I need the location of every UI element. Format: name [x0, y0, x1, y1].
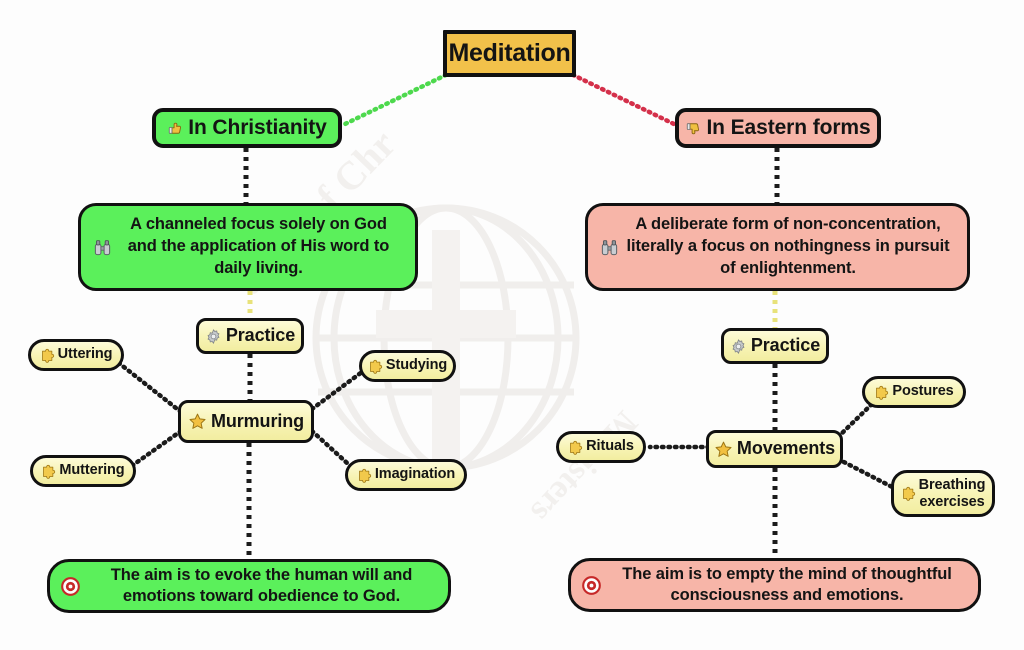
leaf-node-rituals[interactable]: Rituals: [556, 431, 646, 463]
description-node-eastern[interactable]: A deliberate form of non-concentration, …: [585, 203, 970, 291]
hub-label-murmuring: Murmuring: [211, 411, 304, 432]
link-movements-postures: [838, 404, 872, 437]
branch-label-christianity: In Christianity: [188, 116, 327, 141]
thumbs-up-icon: [167, 120, 184, 137]
link-root-christianity: [343, 72, 452, 125]
branch-node-christianity[interactable]: In Christianity: [152, 108, 342, 148]
aim-text-eastern: The aim is to empty the mind of thoughtf…: [606, 564, 968, 607]
svg-text:Ministers: Ministers: [523, 404, 644, 530]
gear-icon: [730, 338, 747, 355]
practice-node-eastern[interactable]: Practice: [721, 328, 829, 364]
thumbs-down-icon: [685, 120, 702, 137]
aim-node-eastern[interactable]: The aim is to empty the mind of thoughtf…: [568, 558, 981, 612]
leaf-label-studying: Studying: [386, 357, 447, 374]
gear-icon: [205, 328, 222, 345]
leaf-label-imagination: Imagination: [375, 466, 455, 483]
puzzle-piece-icon: [41, 464, 56, 479]
connector-layer: [0, 0, 1024, 650]
branch-node-eastern[interactable]: In Eastern forms: [675, 108, 881, 148]
practice-node-christianity[interactable]: Practice: [196, 318, 304, 354]
branch-label-eastern: In Eastern forms: [706, 116, 870, 141]
leaf-node-postures[interactable]: Postures: [862, 376, 966, 408]
hub-node-murmuring[interactable]: Murmuring: [178, 400, 314, 443]
description-node-christianity[interactable]: A channeled focus solely on God and the …: [78, 203, 418, 291]
aim-node-christianity[interactable]: The aim is to evoke the human will and e…: [47, 559, 451, 613]
hub-label-movements: Movements: [737, 438, 835, 459]
binoculars-icon: [600, 238, 619, 257]
puzzle-piece-icon: [368, 359, 383, 374]
leaf-label-breathing-exercises: Breathing exercises: [919, 477, 986, 511]
root-node-meditation[interactable]: Meditation: [443, 30, 576, 77]
puzzle-piece-icon: [901, 486, 916, 501]
root-node-label: Meditation: [449, 39, 571, 69]
description-text-eastern: A deliberate form of non-concentration, …: [621, 214, 955, 279]
puzzle-piece-icon: [357, 468, 372, 483]
target-icon: [60, 576, 81, 597]
binoculars-icon: [93, 238, 112, 257]
puzzle-piece-icon: [568, 440, 583, 455]
link-movements-breathing: [838, 459, 898, 490]
leaf-label-uttering: Uttering: [58, 346, 113, 363]
leaf-node-imagination[interactable]: Imagination: [345, 459, 467, 491]
practice-label-eastern: Practice: [751, 335, 820, 356]
link-murmuring-studying: [312, 369, 366, 409]
leaf-label-postures: Postures: [892, 383, 953, 400]
hub-node-movements[interactable]: Movements: [706, 430, 843, 468]
star-icon: [714, 440, 733, 459]
star-icon: [188, 412, 207, 431]
target-icon: [581, 575, 602, 596]
link-root-eastern: [567, 72, 676, 125]
mindmap-canvas: ation of Chr Ministers Meditation: [0, 0, 1024, 650]
leaf-node-muttering[interactable]: Muttering: [30, 455, 136, 487]
puzzle-piece-icon: [40, 348, 55, 363]
leaf-node-breathing-exercises[interactable]: Breathing exercises: [891, 470, 995, 517]
practice-label-christianity: Practice: [226, 325, 295, 346]
link-murmuring-uttering: [115, 360, 181, 412]
leaf-node-studying[interactable]: Studying: [359, 350, 456, 382]
leaf-node-uttering[interactable]: Uttering: [28, 339, 124, 371]
description-text-christianity: A channeled focus solely on God and the …: [114, 214, 403, 279]
aim-text-christianity: The aim is to evoke the human will and e…: [85, 565, 438, 608]
leaf-label-rituals: Rituals: [586, 438, 634, 455]
leaf-label-muttering: Muttering: [59, 462, 124, 479]
puzzle-piece-icon: [874, 385, 889, 400]
